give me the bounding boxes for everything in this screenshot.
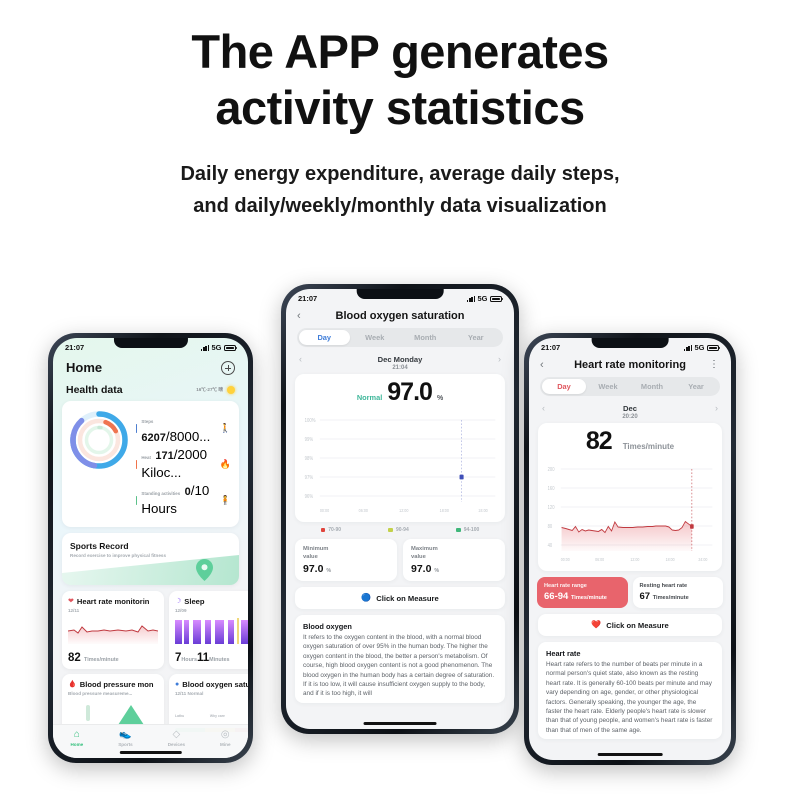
minimum-value-card: Minimum value 97.0 %: [295, 539, 397, 581]
svg-text:80: 80: [548, 524, 553, 529]
headline-block: The APP generates activity statistics Da…: [0, 24, 800, 222]
signal-icon: [684, 345, 692, 351]
svg-text:97%: 97%: [305, 475, 313, 480]
battery-icon: [224, 345, 236, 351]
sports-record-desc: Record exercise to improve physical fitn…: [70, 553, 231, 558]
mini-card-heart-rate[interactable]: ❤ Heart rate monitorin 12/11: [62, 591, 164, 669]
resting-heart-rate-label: Resting heart rate: [640, 583, 717, 589]
notch: [357, 289, 444, 299]
flame-icon: 🔥: [220, 460, 231, 469]
period-tabs-right: Day Week Month Year: [540, 377, 720, 396]
current-date-label: Dec Monday: [378, 355, 423, 364]
tab-mine-label: Mine: [220, 742, 230, 747]
headline-subtitle: Daily energy expenditure, average daily …: [0, 158, 800, 222]
legend-label-low: 70-90: [328, 527, 341, 533]
home-icon: ⌂: [74, 730, 80, 740]
sleep-value: 7Hours11Minutes: [175, 652, 248, 664]
watch-icon: ◇: [173, 730, 181, 740]
person-icon: ◎: [221, 730, 230, 740]
heart-rate-article: Heart rate Heart rate refers to the numb…: [538, 642, 722, 739]
period-tabs-center: Day Week Month Year: [297, 328, 503, 347]
maximum-label-b: value: [411, 553, 497, 561]
minimum-label-b: value: [303, 553, 389, 561]
stat-standing: Standing activities 0/10 Hours 🧍: [136, 482, 231, 518]
date-selector-center: ‹ Dec Monday ›: [286, 347, 514, 365]
blood-oxygen-chart: 100%99% 98%97%96% 00:0006:00 12:0018:002…: [303, 412, 497, 516]
reading-unit: Times/minute: [623, 442, 674, 451]
tab-week[interactable]: Week: [350, 330, 401, 345]
svg-text:00:00: 00:00: [320, 508, 330, 513]
subtitle-line-1: Daily energy expenditure, average daily …: [0, 158, 800, 190]
minmax-row: Minimum value 97.0 % Maximum value 97.0 …: [295, 539, 505, 581]
blood-oxygen-title: Blood oxygen satur: [182, 680, 248, 689]
svg-text:120: 120: [548, 505, 555, 510]
tab-sports[interactable]: 👟 Sports: [118, 730, 133, 747]
heat-value: 171: [155, 450, 173, 462]
reading-time: 21:04: [286, 365, 514, 374]
sun-icon: [227, 386, 235, 394]
minimum-label-a: Minimum: [303, 545, 389, 553]
walk-icon: 🚶: [220, 424, 231, 433]
tab-week[interactable]: Week: [586, 379, 630, 394]
svg-text:100%: 100%: [305, 418, 316, 423]
current-date-label: Dec: [623, 404, 637, 413]
legend-item-high: 94-100: [456, 527, 479, 533]
subtitle-line-2: and daily/weekly/monthly data visualizat…: [0, 190, 800, 222]
stat-heat: Heat 171/2000 Kiloc... 🔥: [136, 446, 231, 482]
minimum-value: 97.0 %: [303, 563, 389, 575]
steps-value: 6207: [141, 432, 165, 444]
heart-rate-reading-card: 82 Times/minute: [538, 423, 722, 571]
location-pin-icon: [196, 559, 213, 581]
status-icons: 5G: [684, 343, 719, 352]
moon-icon: ☽: [175, 598, 181, 605]
home-nav: Home: [53, 354, 248, 378]
heart-rate-range-value: 66-94 Times/minute: [544, 591, 621, 602]
standing-marker-icon: [136, 496, 137, 505]
date-selector-right: ‹ Dec ›: [529, 396, 731, 414]
status-icons: 5G: [467, 294, 502, 303]
blood-pressure-title: Blood pressure mon: [80, 680, 154, 689]
svg-text:98%: 98%: [305, 456, 313, 461]
article-body: Heart rate refers to the number of beats…: [546, 660, 714, 735]
blood-oxygen-nav: ‹ Blood oxygen saturation: [286, 305, 514, 328]
article-title: Blood oxygen: [303, 622, 497, 631]
status-time: 21:07: [65, 343, 84, 352]
heart-rate-range-number: 66-94: [544, 591, 568, 602]
health-data-label: Health data: [66, 384, 123, 396]
standing-label: Standing activities: [141, 491, 180, 496]
steps-label: Steps: [141, 419, 153, 424]
sleep-minutes-unit: Minutes: [209, 657, 229, 663]
reading-status-badge: Normal: [357, 393, 382, 402]
network-label: 5G: [211, 343, 221, 352]
headline-line-1: The APP generates: [191, 25, 608, 78]
heart-measure-icon: ❤️: [591, 621, 601, 629]
heart-rate-unit: Times/minute: [84, 657, 119, 663]
tab-month[interactable]: Month: [630, 379, 674, 394]
page-title: The APP generates activity statistics: [0, 24, 800, 136]
blood-oxygen-page-title: Blood oxygen saturation: [309, 310, 491, 322]
blood-oxygen-legend: 70-90 90-94 94-100: [297, 527, 503, 533]
steps-unit: /8000...: [166, 429, 210, 444]
shoe-icon: 👟: [119, 730, 131, 740]
stand-icon: 🧍: [220, 496, 231, 505]
blood-drop-icon: 🩸: [68, 681, 77, 688]
sleep-hours-unit: Hours: [181, 657, 197, 663]
battery-icon: [490, 296, 502, 302]
network-label: 5G: [694, 343, 704, 352]
headline-line-2: activity statistics: [0, 80, 800, 136]
measure-button-label: Click on Measure: [606, 621, 668, 630]
network-label: 5G: [477, 294, 487, 303]
add-icon[interactable]: [221, 361, 235, 375]
home-body: Steps 6207/8000... 🚶 Heat 171/2000 Kiloc…: [53, 401, 248, 740]
maximum-label-a: Maximum: [411, 545, 497, 553]
next-date-icon[interactable]: ›: [498, 354, 501, 364]
tab-year[interactable]: Year: [451, 330, 502, 345]
tab-month[interactable]: Month: [400, 330, 451, 345]
svg-text:200: 200: [548, 467, 555, 472]
tab-home[interactable]: ⌂ Home: [70, 730, 83, 747]
svg-text:12:00: 12:00: [630, 557, 640, 562]
heart-rate-summary-row: Heart rate range 66-94 Times/minute Rest…: [537, 577, 723, 608]
bo-label-1: Why care: [210, 714, 225, 718]
health-summary-card[interactable]: Steps 6207/8000... 🚶 Heat 171/2000 Kiloc…: [62, 401, 239, 527]
phone-right-heart-rate: 21:07 5G ‹ Heart rate monitoring ⋮ Day W…: [524, 333, 736, 765]
maximum-number: 97.0: [411, 563, 431, 575]
resting-heart-rate-value: 67 Times/minute: [640, 591, 717, 602]
health-stats-list: Steps 6207/8000... 🚶 Heat 171/2000 Kiloc…: [136, 409, 231, 519]
screen-blood-oxygen: 21:07 5G ‹ Blood oxygen saturation Day W…: [286, 289, 514, 729]
heart-rate-range-unit: Times/minute: [571, 595, 607, 601]
maximum-value: 97.0 %: [411, 563, 497, 575]
measure-button-center[interactable]: 🔵 Click on Measure: [295, 587, 505, 609]
weather-text: 16℃-27℃ 晴: [196, 387, 223, 393]
tab-home-label: Home: [70, 742, 83, 747]
svg-text:00:00: 00:00: [561, 557, 571, 562]
status-time: 21:07: [298, 294, 317, 303]
maximum-unit: %: [434, 568, 439, 574]
mini-card-sleep[interactable]: ☽ Sleep 12/09: [169, 591, 248, 669]
heart-rate-range-card: Heart rate range 66-94 Times/minute: [537, 577, 628, 608]
next-date-icon[interactable]: ›: [715, 403, 718, 413]
resting-heart-rate-card: Resting heart rate 67 Times/minute: [633, 577, 724, 608]
promo-page: The APP generates activity statistics Da…: [0, 0, 800, 800]
back-icon[interactable]: ‹: [297, 311, 309, 322]
sleep-date: 12/09: [175, 608, 248, 613]
heart-rate-date: 12/11: [68, 608, 158, 613]
signal-icon: [467, 296, 475, 302]
minimum-unit: %: [326, 568, 331, 574]
back-icon[interactable]: ‹: [540, 360, 552, 371]
tab-day[interactable]: Day: [542, 379, 586, 394]
sleep-title: Sleep: [184, 597, 204, 606]
notch: [592, 338, 669, 348]
tab-devices-label: Devices: [168, 742, 185, 747]
legend-swatch-high: [456, 528, 461, 533]
sleep-bar-chart: [175, 618, 248, 644]
bo-label-0: Lathu: [175, 714, 184, 718]
oxygen-dot-icon: ●: [175, 681, 179, 688]
weather-badge: 16℃-27℃ 晴: [196, 386, 235, 394]
reading-unit: %: [437, 395, 443, 402]
heart-rate-range-label: Heart rate range: [544, 583, 621, 589]
prev-date-icon[interactable]: ‹: [542, 403, 545, 413]
svg-text:18:00: 18:00: [666, 557, 676, 562]
svg-text:40: 40: [548, 543, 553, 548]
home-indicator: [119, 751, 181, 754]
heat-unit: /2000 Kiloc...: [141, 447, 207, 480]
status-icons: 5G: [201, 343, 236, 352]
svg-text:18:00: 18:00: [440, 508, 450, 513]
legend-swatch-low: [321, 528, 326, 533]
measure-button-right[interactable]: ❤️ Click on Measure: [538, 614, 722, 636]
legend-label-high: 94-100: [464, 527, 480, 533]
blood-oxygen-reading-card: Normal 97.0 % 100%99%: [295, 374, 505, 522]
svg-text:24:00: 24:00: [478, 508, 488, 513]
steps-marker-icon: [136, 424, 137, 433]
prev-date-icon[interactable]: ‹: [299, 354, 302, 364]
legend-label-mid: 90-94: [396, 527, 409, 533]
stat-steps: Steps 6207/8000... 🚶: [136, 410, 231, 446]
home-indicator: [364, 722, 437, 725]
resting-heart-rate-unit: Times/minute: [653, 595, 689, 601]
activity-rings: [68, 409, 130, 471]
heart-rate-nav: ‹ Heart rate monitoring ⋮: [529, 354, 731, 377]
screen-home: 21:07 5G Home Health data 16℃-27℃ 晴: [53, 338, 248, 758]
svg-text:06:00: 06:00: [595, 557, 605, 562]
legend-item-low: 70-90: [321, 527, 341, 533]
reading-value: 97.0: [387, 378, 432, 407]
mini-card-grid: ❤ Heart rate monitorin 12/11: [62, 591, 239, 740]
heat-marker-icon: [136, 460, 137, 469]
heart-rate-chart: 200160 1208040 00:0006:00 12:0018:0024:0…: [546, 461, 714, 565]
standing-unit: /10 Hours: [141, 483, 209, 516]
health-data-header: Health data 16℃-27℃ 晴: [53, 378, 248, 401]
more-icon[interactable]: ⋮: [708, 360, 720, 370]
svg-text:12:00: 12:00: [399, 508, 409, 513]
signal-icon: [201, 345, 209, 351]
maximum-value-card: Maximum value 97.0 %: [403, 539, 505, 581]
reading-value: 82: [586, 427, 612, 456]
svg-text:06:00: 06:00: [359, 508, 369, 513]
tab-devices[interactable]: ◇ Devices: [168, 730, 185, 747]
heat-label: Heat: [141, 455, 151, 460]
heart-rate-sparkline: [68, 618, 158, 644]
minimum-number: 97.0: [303, 563, 323, 575]
resting-heart-rate-number: 67: [640, 591, 651, 602]
heart-icon: ❤: [68, 598, 74, 605]
svg-text:99%: 99%: [305, 437, 313, 442]
phone-left-home: 21:07 5G Home Health data 16℃-27℃ 晴: [48, 333, 253, 763]
svg-text:96%: 96%: [305, 494, 313, 499]
legend-item-mid: 90-94: [388, 527, 408, 533]
measure-button-label: Click on Measure: [376, 594, 438, 603]
tab-sports-label: Sports: [118, 742, 133, 747]
reading-time: 20:20: [529, 414, 731, 423]
blood-oxygen-reading: Normal 97.0 %: [303, 378, 497, 407]
blood-oxygen-article: Blood oxygen It refers to the oxygen con…: [295, 615, 505, 703]
article-title: Heart rate: [546, 649, 714, 658]
oxygen-measure-icon: 🔵: [361, 594, 371, 602]
sports-record-card[interactable]: Sports Record Record exercise to improve…: [62, 533, 239, 585]
heart-rate-page-title: Heart rate monitoring: [552, 359, 708, 371]
screen-heart-rate: 21:07 5G ‹ Heart rate monitoring ⋮ Day W…: [529, 338, 731, 760]
home-title: Home: [66, 360, 102, 375]
phone-center-blood-oxygen: 21:07 5G ‹ Blood oxygen saturation Day W…: [281, 284, 519, 734]
tab-day[interactable]: Day: [299, 330, 350, 345]
sleep-minutes: 11: [197, 652, 209, 664]
notch: [113, 338, 187, 348]
sports-record-title: Sports Record: [70, 541, 231, 551]
article-body: It refers to the oxygen content in the b…: [303, 633, 497, 699]
heart-rate-number: 82: [68, 652, 81, 664]
blood-oxygen-bar-labels: Lathu Why care Too silky: [175, 714, 248, 718]
home-indicator: [598, 753, 663, 756]
heart-rate-title: Heart rate monitorin: [77, 597, 150, 606]
status-time: 21:07: [541, 343, 560, 352]
heart-rate-reading: 82 Times/minute: [546, 427, 714, 456]
battery-icon: [707, 345, 719, 351]
legend-swatch-mid: [388, 528, 393, 533]
tab-year[interactable]: Year: [674, 379, 718, 394]
tab-mine[interactable]: ◎ Mine: [220, 730, 230, 747]
blood-pressure-desc: Blood pressure measureme...: [68, 691, 158, 696]
svg-text:160: 160: [548, 486, 555, 491]
svg-text:24:00: 24:00: [698, 557, 708, 562]
heart-rate-value: 82 Times/minute: [68, 652, 158, 664]
